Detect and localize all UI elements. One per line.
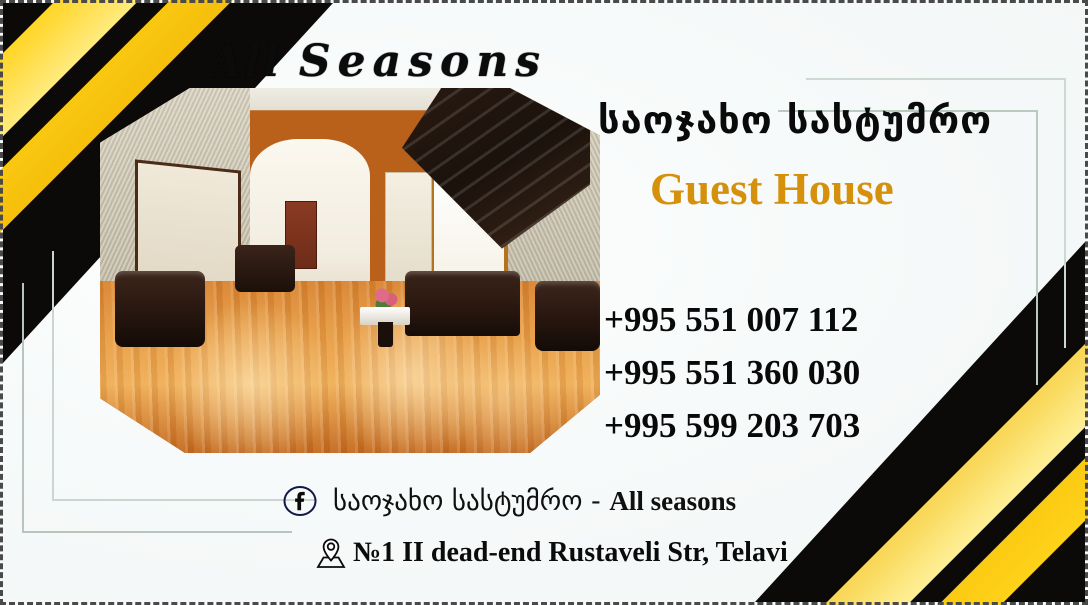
facebook-name-georgian: საოჯახო სასტუმრო [333, 486, 582, 517]
photo-chair-background [235, 245, 295, 292]
facebook-name-latin: All seasons [609, 486, 736, 516]
business-card: All Seasons საოჯახო სასტუმრო Guest House [0, 0, 1088, 605]
photo-leather-sofa [405, 271, 520, 337]
phone-number[interactable]: +995 599 203 703 [604, 399, 860, 452]
address-text: №1 II dead-end Rustaveli Str, Telavi [353, 537, 788, 569]
photo-table-base [378, 322, 393, 348]
map-pin-icon [313, 533, 349, 573]
phone-number[interactable]: +995 551 007 112 [604, 293, 860, 346]
phone-number[interactable]: +995 551 360 030 [604, 346, 860, 399]
photo-scene [100, 88, 600, 453]
georgian-title: საოჯახო სასტუმრო [598, 98, 992, 142]
logo-title: All Seasons [208, 36, 547, 87]
address-row[interactable]: №1 II dead-end Rustaveli Str, Telavi [313, 533, 788, 573]
photo-armchair-left [115, 271, 205, 348]
english-title: Guest House [650, 163, 894, 215]
photo-armchair-right [535, 281, 600, 350]
facebook-icon[interactable] [283, 484, 317, 518]
facebook-name-separator: - [582, 486, 609, 517]
logo-title-word-2: Seasons [299, 36, 547, 87]
guest-house-photo [100, 88, 600, 453]
facebook-page-name: საოჯახო სასტუმრო - All seasons [333, 486, 736, 517]
logo-title-word-1: All [208, 36, 282, 87]
phone-list: +995 551 007 112 +995 551 360 030 +995 5… [604, 293, 860, 452]
facebook-row[interactable]: საოჯახო სასტუმრო - All seasons [283, 484, 736, 518]
